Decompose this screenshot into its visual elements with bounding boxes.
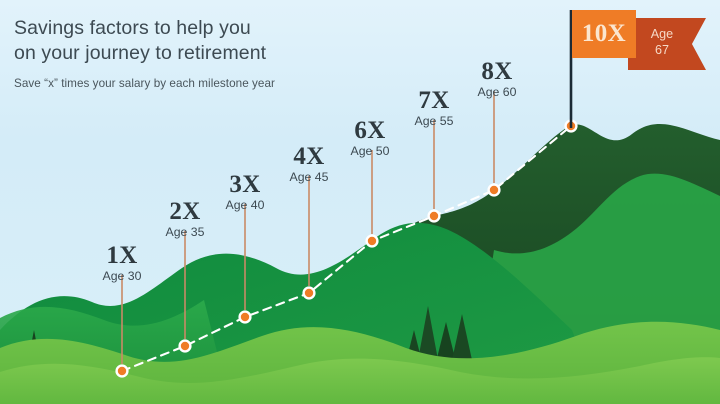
- flag-age-label: Age 67: [636, 26, 688, 58]
- milestone-factor-label: 1X: [72, 243, 172, 268]
- marker-dot-4x: [305, 289, 313, 297]
- infographic-canvas: Savings factors to help you on your jour…: [0, 0, 720, 404]
- flag-front-panel: 10X: [572, 10, 636, 58]
- marker-dot-6x: [368, 237, 376, 245]
- milestone-8x: 8XAge 60: [447, 59, 547, 100]
- marker-dot-7x: [430, 212, 438, 220]
- marker-dot-2x: [181, 342, 189, 350]
- milestone-1x: 1XAge 30: [72, 243, 172, 284]
- milestone-factor-label: 8X: [447, 59, 547, 84]
- marker-dot-8x: [490, 186, 498, 194]
- milestone-age-label: Age 45: [259, 170, 359, 185]
- milestone-age-label: Age 40: [195, 198, 295, 213]
- page-title-line-1: Savings factors to help you: [14, 16, 394, 41]
- milestone-age-label: Age 35: [135, 225, 235, 240]
- flag-age-number: 67: [636, 42, 688, 58]
- marker-dot-3x: [241, 313, 249, 321]
- marker-dot-1x: [118, 367, 126, 375]
- page-subtitle: Save “x” times your salary by each miles…: [14, 77, 394, 90]
- milestone-age-label: Age 55: [384, 114, 484, 129]
- milestone-age-label: Age 50: [320, 144, 420, 159]
- header-block: Savings factors to help you on your jour…: [14, 16, 394, 90]
- page-title-line-2: on your journey to retirement: [14, 41, 394, 66]
- milestone-age-label: Age 60: [447, 85, 547, 100]
- flag-factor-label: 10X: [582, 20, 626, 48]
- milestone-age-label: Age 30: [72, 269, 172, 284]
- flag-age-word: Age: [651, 27, 673, 41]
